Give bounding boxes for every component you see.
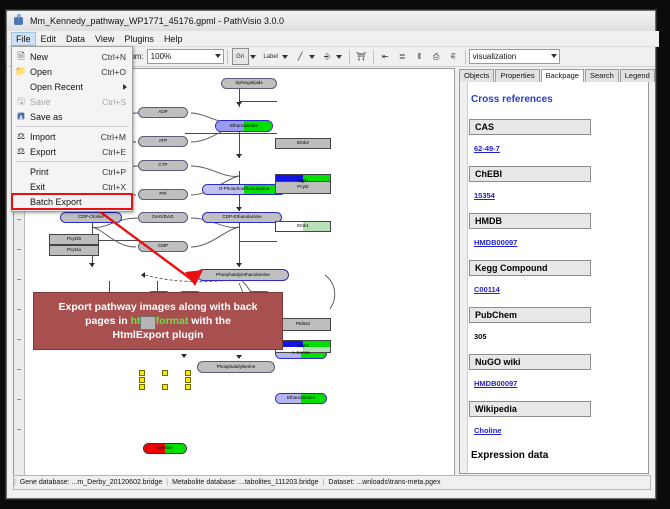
toolbar-separator-3	[373, 50, 374, 64]
annotation-banner: Export pathway images along with back pa…	[33, 292, 283, 350]
xref-header-kegg-compound: Kegg Compound	[469, 260, 591, 276]
status-dataset: Dataset: ...wnloads\trans-meta.pgex	[324, 479, 444, 486]
save-disk-icon: 🖫	[12, 94, 30, 110]
node-ethanolamine-bottom[interactable]: Ethanolamine	[275, 393, 327, 404]
screenshot-root: Mm_Kennedy_pathway_WP1771_45176.gpml - P…	[0, 0, 670, 509]
menu-view[interactable]: View	[90, 32, 119, 46]
node-gene-ptdss2[interactable]: Ptdss2	[275, 318, 331, 331]
line-dropdown-icon[interactable]	[309, 55, 315, 59]
toolbar-separator-2	[349, 50, 350, 64]
xref-header-cas: CAS	[469, 119, 591, 135]
selection-handle-ne[interactable]	[185, 370, 191, 376]
label-tool-icon[interactable]: Label	[261, 49, 281, 64]
expression-data-title: Expression data	[471, 450, 645, 461]
menu-item-save-as[interactable]: 🖪 Save as	[12, 109, 132, 124]
pathway-connector-stub	[140, 316, 156, 330]
menu-item-save: 🖫 Save Ctrl+S	[12, 94, 132, 109]
menu-plugins[interactable]: Plugins	[119, 32, 159, 46]
menu-help[interactable]: Help	[159, 32, 188, 46]
annotation-line2-a: pages in	[85, 315, 131, 327]
selection-handle-e[interactable]	[185, 377, 191, 383]
status-bar: | Gene database: ...m_Derby_20120602.bri…	[13, 475, 651, 490]
xref-header-nugo-wiki: NuGO wiki	[469, 354, 591, 370]
new-document-icon: 🗎	[12, 49, 30, 65]
node-gene-etnk1[interactable]: Etnk1	[275, 221, 331, 232]
annotation-line2-b: with the	[188, 315, 231, 327]
toolbar-separator	[227, 50, 228, 64]
menu-bar: File Edit Data View Plugins Help	[7, 31, 659, 47]
zoom-combo[interactable]: 100%	[147, 49, 224, 64]
datanode-dropdown-icon[interactable]	[250, 55, 256, 59]
xref-header-wikipedia: Wikipedia	[469, 401, 591, 417]
menu-item-print[interactable]: Print Ctrl+P	[12, 164, 132, 179]
menu-item-export[interactable]: ⚖ Export Ctrl+E	[12, 144, 132, 159]
node-gene-etnk2[interactable]: Etnk2	[275, 138, 331, 149]
selection-handle-s[interactable]	[162, 384, 168, 390]
tab-properties[interactable]: Properties	[495, 69, 539, 82]
xref-value-wikipedia[interactable]: Choline	[474, 426, 502, 435]
xref-value-hmdb[interactable]: HMDB00097	[474, 238, 517, 247]
node-phosphatidylserine[interactable]: Phosphatidylserine	[197, 361, 275, 373]
menu-item-import[interactable]: ⚖ Import Ctrl+M	[12, 129, 132, 144]
node-adp[interactable]: ADP	[138, 107, 188, 118]
visualization-value: visualization	[473, 52, 517, 61]
xref-value-pubchem: 305	[474, 332, 487, 341]
xref-value-kegg-compound[interactable]: C00114	[474, 285, 500, 294]
menu-item-batch-export[interactable]: Batch Export	[12, 194, 132, 209]
backpage-scrollbar[interactable]	[460, 82, 468, 473]
menu-item-open-recent[interactable]: Open Recent	[12, 79, 132, 94]
menu-item-new[interactable]: 🗎 New Ctrl+N	[12, 49, 132, 64]
selection-handle-nw[interactable]	[139, 370, 145, 376]
import-icon: ⚖	[12, 131, 30, 142]
selection-handle-w[interactable]	[139, 377, 145, 383]
xref-value-nugo-wiki[interactable]: HMDB00097	[474, 379, 517, 388]
align-left-tool-icon[interactable]: ⇤	[378, 49, 393, 64]
menu-edit[interactable]: Edit	[36, 32, 62, 46]
open-folder-icon: 📁	[12, 66, 30, 77]
chevron-down-icon	[215, 54, 221, 58]
side-panel-tabs: Objects Properties Backpage Search Legen…	[459, 68, 649, 83]
label-dropdown-icon[interactable]	[282, 55, 288, 59]
toolbar-separator-4	[465, 50, 466, 64]
annotation-line3: HtmlExport plugin	[113, 329, 204, 341]
menu-separator-1	[15, 126, 129, 127]
bring-front-tool-icon[interactable]: ⋷	[446, 49, 461, 64]
tab-backpage[interactable]: Backpage	[541, 69, 584, 83]
xref-header-chebi: ChEBI	[469, 166, 591, 182]
status-metabolite-database: Metabolite database: ...tabolites_111203…	[168, 479, 322, 486]
xref-value-cas[interactable]: 62-49-7	[474, 144, 500, 153]
zoom-value: 100%	[151, 52, 171, 61]
visualization-combo[interactable]: visualization	[469, 49, 560, 64]
align-stack-tool-icon[interactable]: ≣	[395, 49, 410, 64]
node-atp[interactable]: ATP	[138, 136, 188, 147]
distribute-tool-icon[interactable]: ⦀	[412, 49, 427, 64]
menu-separator-2	[15, 161, 129, 162]
annotation-line1: Export pathway images along with back	[59, 301, 258, 313]
tab-objects[interactable]: Objects	[459, 69, 494, 82]
chevron-right-icon	[123, 84, 127, 90]
file-menu-dropdown[interactable]: 🗎 New Ctrl+N 📁 Open Ctrl+O Open Recent 🖫…	[11, 46, 133, 212]
xref-header-hmdb: HMDB	[469, 213, 591, 229]
selection-handle-se[interactable]	[185, 384, 191, 390]
anchor-tool-icon[interactable]: ⛩	[354, 49, 369, 64]
selection-handle-sw[interactable]	[139, 384, 145, 390]
title-bar: Mm_Kennedy_pathway_WP1771_45176.gpml - P…	[7, 11, 655, 32]
menu-item-exit[interactable]: Exit Ctrl+X	[12, 179, 132, 194]
datanode-tool-icon[interactable]: Gn	[232, 48, 249, 65]
tab-legend[interactable]: Legend	[620, 69, 655, 82]
node-choline-selected[interactable]: Choline	[143, 443, 187, 454]
node-sphingolipids[interactable]: Sphingolipids	[221, 78, 277, 89]
status-gene-database: Gene database: ...m_Derby_20120602.bridg…	[16, 479, 166, 486]
node-ctp[interactable]: CTP	[138, 160, 188, 171]
interaction-dropdown-icon[interactable]	[336, 55, 342, 59]
save-as-icon: 🖪	[12, 109, 30, 125]
cross-references-title: Cross references	[471, 94, 645, 105]
backpage-content: Cross references CAS 62-49-7 ChEBI 15354…	[459, 82, 649, 474]
window-title: Mm_Kennedy_pathway_WP1771_45176.gpml - P…	[30, 16, 284, 26]
print-tool-icon[interactable]: ⎙	[429, 49, 444, 64]
menu-file[interactable]: File	[11, 32, 36, 46]
menu-data[interactable]: Data	[61, 32, 90, 46]
selection-handle-n[interactable]	[162, 370, 168, 376]
xref-value-chebi[interactable]: 15354	[474, 191, 495, 200]
side-panel: Objects Properties Backpage Search Legen…	[459, 68, 649, 474]
xref-header-pubchem: PubChem	[469, 307, 591, 323]
tab-search[interactable]: Search	[585, 69, 619, 82]
line-tool-icon[interactable]: ╱	[293, 49, 308, 64]
application-window: Mm_Kennedy_pathway_WP1771_45176.gpml - P…	[6, 10, 656, 499]
pathvisio-icon	[12, 14, 26, 28]
export-icon: ⚖	[12, 146, 30, 157]
menu-item-open[interactable]: 📁 Open Ctrl+O	[12, 64, 132, 79]
chevron-down-icon-2	[551, 54, 557, 58]
interaction-tool-icon[interactable]: ⎆	[320, 49, 335, 64]
node-ethanolamine-top[interactable]: Ethanolamine	[215, 120, 273, 132]
